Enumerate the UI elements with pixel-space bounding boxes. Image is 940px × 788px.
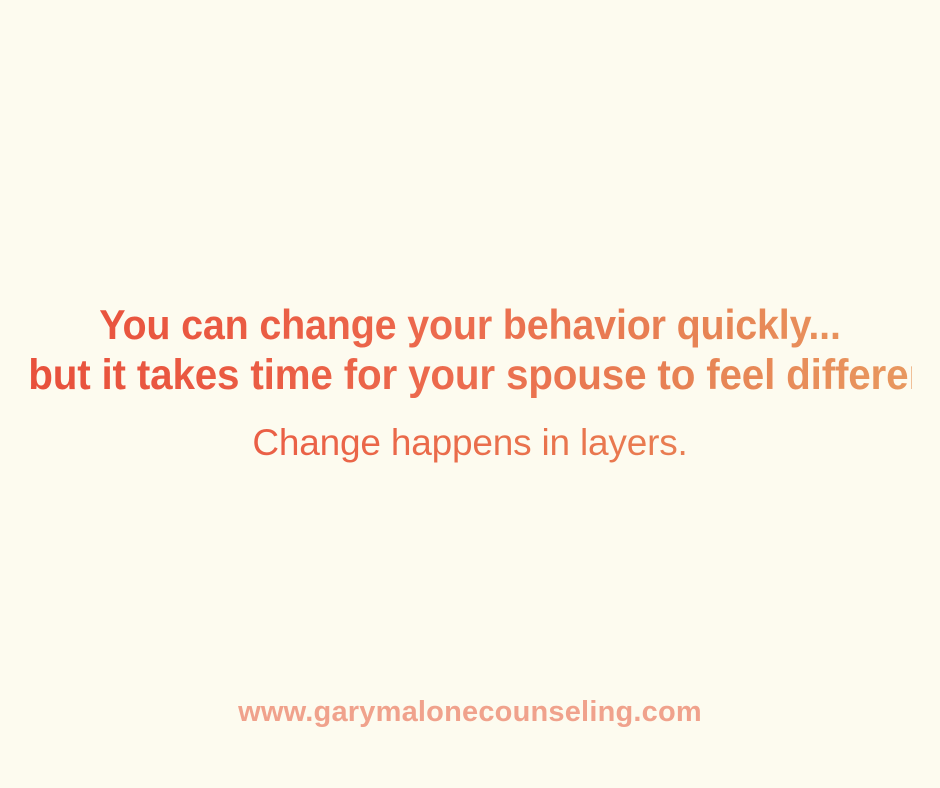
headline-line-2: but it takes time for your spouse to fee…: [28, 350, 912, 400]
headline-line-1: You can change your behavior quickly...: [28, 300, 912, 350]
footer-website-url: www.garymalonecounseling.com: [0, 694, 940, 730]
quote-card: You can change your behavior quickly... …: [0, 0, 940, 788]
subtitle: Change happens in layers.: [0, 420, 940, 466]
headline: You can change your behavior quickly... …: [0, 300, 940, 400]
